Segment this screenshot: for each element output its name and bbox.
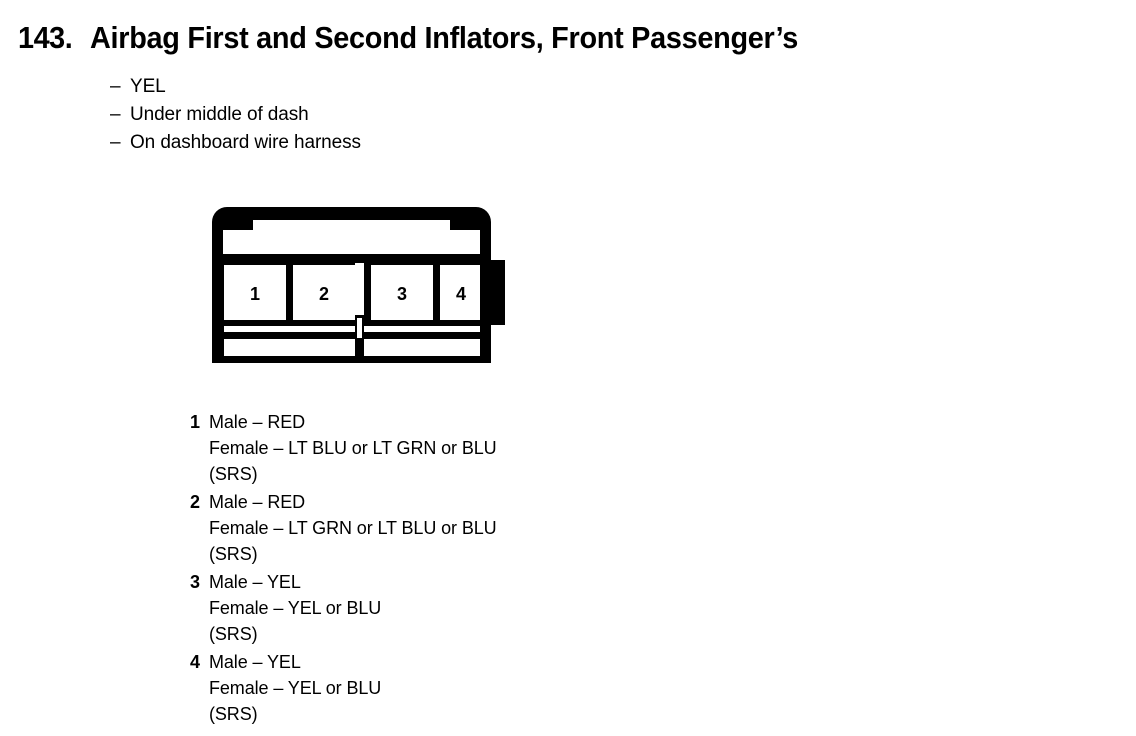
legend-entry: 1 Male – RED Female – LT BLU or LT GRN o… [180,409,497,487]
note-dash-marker: – [110,101,130,129]
legend-pin-details: Male – RED Female – LT BLU or LT GRN or … [209,409,497,487]
legend-pin-number: 4 [180,649,200,675]
legend-pin-number: 3 [180,569,200,595]
note-item: –On dashboard wire harness [110,129,361,157]
page-title: 143. Airbag First and Second Inflators, … [18,20,852,56]
note-item: –YEL [110,73,361,101]
legend-line-male: Male – RED [209,409,497,435]
legend-entry: 4 Male – YEL Female – YEL or BLU (SRS) [180,649,497,727]
legend-line-female: Female – LT BLU or LT GRN or BLU [209,435,497,461]
connector-latch-recess [223,220,480,254]
page-title-text: Airbag First and Second Inflators, Front… [90,20,798,56]
legend-line-female: Female – YEL or BLU [209,595,381,621]
note-item-label: On dashboard wire harness [130,132,361,153]
legend-line-system: (SRS) [209,541,497,567]
legend-line-male: Male – YEL [209,569,381,595]
legend-entry: 3 Male – YEL Female – YEL or BLU (SRS) [180,569,497,647]
connector-separator-left [224,326,355,332]
pin-legend: 1 Male – RED Female – LT BLU or LT GRN o… [180,409,497,729]
legend-line-female: Female – YEL or BLU [209,675,381,701]
connector-cavity-label-3: 3 [397,284,407,304]
legend-pin-details: Male – YEL Female – YEL or BLU (SRS) [209,569,381,647]
note-dash-marker: – [110,73,130,101]
connector-right-wall-mask [480,260,505,325]
legend-pin-details: Male – RED Female – LT GRN or LT BLU or … [209,489,497,567]
connector-diagram: 1 2 3 4 [205,200,505,377]
connector-cavity-label-2: 2 [319,284,329,304]
legend-line-male: Male – RED [209,489,497,515]
legend-line-system: (SRS) [209,701,381,727]
legend-line-female: Female – LT GRN or LT BLU or BLU [209,515,497,541]
notes-list: –YEL –Under middle of dash –On dashboard… [110,73,361,157]
note-item: –Under middle of dash [110,101,361,129]
note-item-label: YEL [130,76,166,97]
legend-line-system: (SRS) [209,621,381,647]
connector-key-slot [357,318,362,338]
note-dash-marker: – [110,129,130,157]
legend-pin-details: Male – YEL Female – YEL or BLU (SRS) [209,649,381,727]
connector-cavity-label-4: 4 [456,284,466,304]
page-title-number: 143. [18,20,72,56]
connector-skirt-right [364,339,480,356]
connector-cavity-label-1: 1 [250,284,260,304]
note-item-label: Under middle of dash [130,104,309,125]
legend-line-system: (SRS) [209,461,497,487]
legend-pin-number: 1 [180,409,200,435]
connector-svg: 1 2 3 4 [205,200,505,372]
legend-line-male: Male – YEL [209,649,381,675]
connector-skirt-left [224,339,355,356]
connector-key-gap [355,263,364,315]
legend-entry: 2 Male – RED Female – LT GRN or LT BLU o… [180,489,497,567]
connector-separator-right [364,326,480,332]
legend-pin-number: 2 [180,489,200,515]
